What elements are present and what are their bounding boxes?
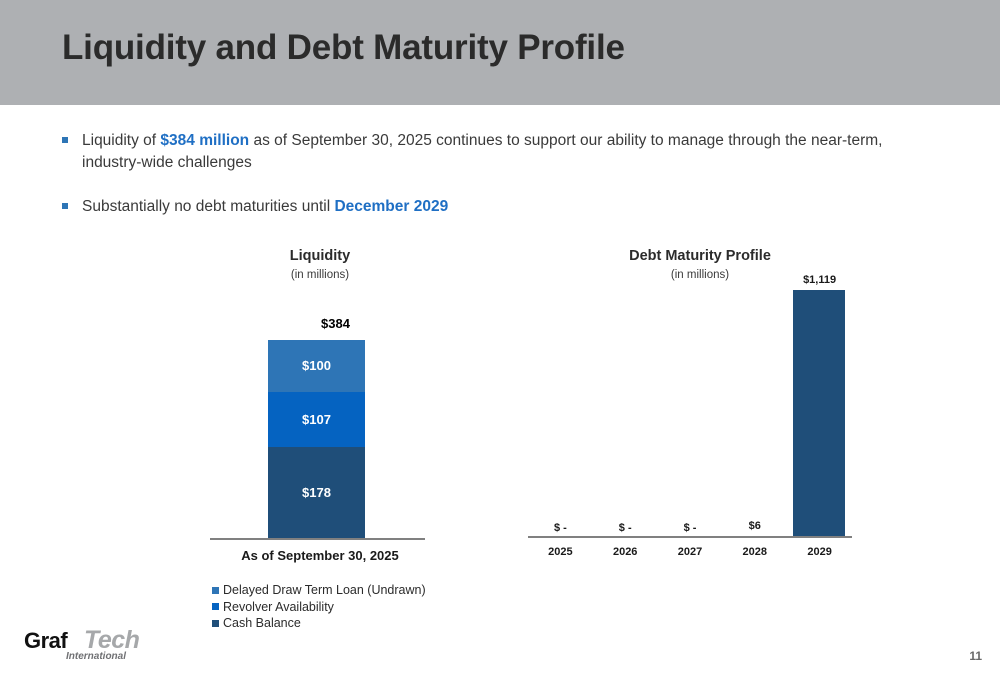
- legend-item-label: Revolver Availability: [223, 600, 334, 614]
- bullet-item: Liquidity of $384 million as of Septembe…: [60, 130, 940, 174]
- logo-international-text: International: [66, 651, 126, 662]
- graftech-logo: Graf Tech International: [24, 628, 154, 668]
- legend-item: Cash Balance: [212, 615, 426, 632]
- logo-graf-text: Graf: [24, 628, 67, 654]
- debt-bar-column: $ -: [593, 290, 658, 538]
- page-title: Liquidity and Debt Maturity Profile: [62, 28, 625, 68]
- liquidity-x-axis-line: [210, 538, 425, 540]
- legend-item: Delayed Draw Term Loan (Undrawn): [212, 582, 426, 599]
- page-number: 11: [969, 649, 982, 663]
- slide-header-band: Liquidity and Debt Maturity Profile: [0, 0, 1000, 105]
- debt-category-label-2025: 2025: [528, 546, 593, 558]
- debt-category-label-2029: 2029: [787, 546, 852, 558]
- liquidity-segment-delayed-draw-term-loan: $100: [268, 340, 365, 392]
- liquidity-total-value: $384: [238, 316, 433, 331]
- bullet-highlight: December 2029: [334, 198, 448, 215]
- debt-chart-title: Debt Maturity Profile: [560, 248, 840, 264]
- liquidity-category-label: As of September 30, 2025: [190, 548, 450, 563]
- bullet-text-pre: Substantially no debt maturities until: [82, 198, 334, 215]
- bullet-marker-icon: [62, 137, 68, 143]
- debt-bar-column: $6: [722, 290, 787, 538]
- bullet-highlight: $384 million: [160, 132, 249, 149]
- debt-bar-value-label: $ -: [528, 522, 593, 534]
- debt-bar-column: $ -: [658, 290, 723, 538]
- liquidity-segment-label: $100: [302, 358, 331, 373]
- debt-category-label-2026: 2026: [593, 546, 658, 558]
- debt-x-axis-line: [528, 536, 852, 538]
- debt-plot-area: $ -$ -$ -$6$1,119: [528, 290, 852, 538]
- bullet-marker-icon: [62, 203, 68, 209]
- debt-maturity-chart: Debt Maturity Profile (in millions) $ -$…: [500, 240, 900, 580]
- liquidity-chart-title: Liquidity: [190, 248, 450, 264]
- liquidity-segment-label: $178: [302, 485, 331, 500]
- bullet-item: Substantially no debt maturities until D…: [60, 196, 940, 218]
- legend-item-label: Delayed Draw Term Loan (Undrawn): [223, 583, 426, 597]
- bullet-list: Liquidity of $384 million as of Septembe…: [60, 130, 940, 232]
- liquidity-segment-revolver-availability: $107: [268, 392, 365, 447]
- legend-item-label: Cash Balance: [223, 616, 301, 630]
- debt-bar-value-label: $ -: [658, 522, 723, 534]
- debt-bar-value-label: $6: [722, 520, 787, 532]
- liquidity-legend: Delayed Draw Term Loan (Undrawn) Revolve…: [212, 582, 426, 632]
- debt-category-label-2028: 2028: [722, 546, 787, 558]
- debt-category-label-2027: 2027: [658, 546, 723, 558]
- debt-bar-value-label: $1,119: [787, 274, 852, 286]
- bullet-text-pre: Liquidity of: [82, 132, 160, 149]
- liquidity-stacked-bar: $100 $107 $178: [268, 340, 365, 539]
- liquidity-segment-cash-balance: $178: [268, 447, 365, 539]
- debt-bar-value-label: $ -: [593, 522, 658, 534]
- legend-swatch-icon: [212, 587, 219, 594]
- liquidity-chart-subtitle: (in millions): [190, 269, 450, 281]
- debt-bar-column: $1,119: [787, 290, 852, 538]
- legend-item: Revolver Availability: [212, 599, 426, 616]
- liquidity-chart: Liquidity (in millions) $384 $100 $107 $…: [190, 240, 450, 630]
- debt-bar-column: $ -: [528, 290, 593, 538]
- debt-bar: [793, 290, 845, 538]
- legend-swatch-icon: [212, 620, 219, 627]
- liquidity-segment-label: $107: [302, 412, 331, 427]
- legend-swatch-icon: [212, 603, 219, 610]
